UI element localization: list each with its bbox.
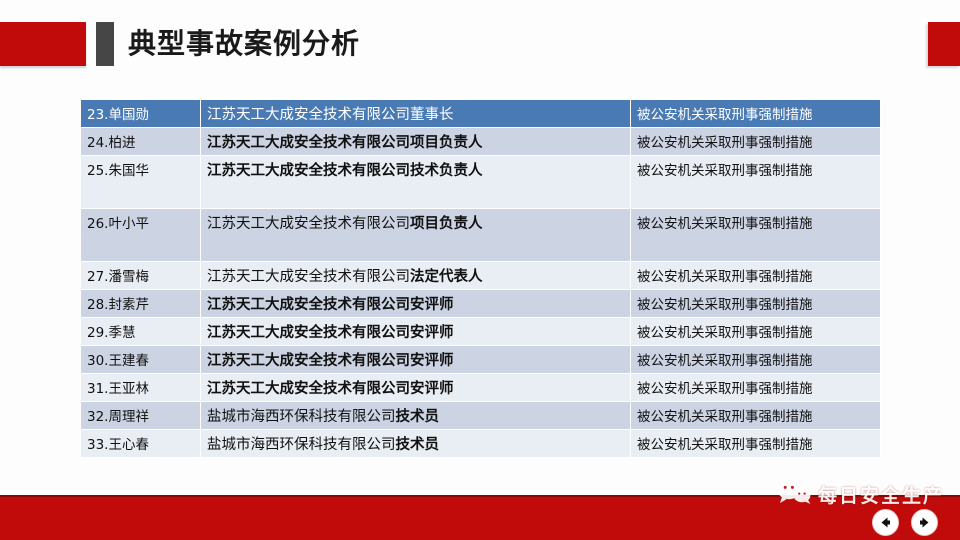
cell-penalty-note: 被公安机关采取刑事强制措施 xyxy=(631,156,881,209)
cell-penalty-note: 被公安机关采取刑事强制措施 xyxy=(631,402,881,430)
role-title: 技术负责人 xyxy=(410,163,483,179)
red-block-left xyxy=(0,22,86,66)
cell-person-name: 32.周理祥 xyxy=(81,402,201,430)
role-title: 安评师 xyxy=(410,297,454,313)
cell-person-name: 33.王心春 xyxy=(81,430,201,458)
cell-company-role: 江苏天工大成安全技术有限公司董事长 xyxy=(201,100,631,128)
company-name: 江苏天工大成安全技术有限公司 xyxy=(207,135,410,151)
cell-company-role: 盐城市海西环保科技有限公司技术员 xyxy=(201,430,631,458)
table-row: 30.王建春江苏天工大成安全技术有限公司安评师被公安机关采取刑事强制措施 xyxy=(81,346,881,374)
red-block-right xyxy=(928,22,960,66)
prev-slide-button[interactable] xyxy=(872,509,899,536)
arrow-left-icon xyxy=(878,515,893,530)
company-name: 江苏天工大成安全技术有限公司 xyxy=(207,216,410,232)
next-slide-button[interactable] xyxy=(911,509,938,536)
role-title: 项目负责人 xyxy=(410,135,483,151)
company-name: 江苏天工大成安全技术有限公司 xyxy=(207,353,410,369)
company-name: 江苏天工大成安全技术有限公司 xyxy=(207,269,410,285)
role-title: 法定代表人 xyxy=(410,269,483,285)
cell-penalty-note: 被公安机关采取刑事强制措施 xyxy=(631,128,881,156)
cell-person-name: 30.王建春 xyxy=(81,346,201,374)
table-row: 26.叶小平江苏天工大成安全技术有限公司项目负责人被公安机关采取刑事强制措施 xyxy=(81,209,881,262)
role-title: 董事长 xyxy=(410,107,454,123)
cell-penalty-note: 被公安机关采取刑事强制措施 xyxy=(631,290,881,318)
cell-person-name: 26.叶小平 xyxy=(81,209,201,262)
cell-penalty-note: 被公安机关采取刑事强制措施 xyxy=(631,346,881,374)
role-title: 项目负责人 xyxy=(410,216,483,232)
role-title: 安评师 xyxy=(410,381,454,397)
role-title: 技术员 xyxy=(396,409,440,425)
cell-person-name: 25.朱国华 xyxy=(81,156,201,209)
cell-person-name: 28.封素芹 xyxy=(81,290,201,318)
cell-company-role: 江苏天工大成安全技术有限公司项目负责人 xyxy=(201,209,631,262)
company-name: 江苏天工大成安全技术有限公司 xyxy=(207,325,410,341)
role-title: 技术员 xyxy=(396,437,440,453)
company-name: 盐城市海西环保科技有限公司 xyxy=(207,437,396,453)
gray-bar-accent xyxy=(96,22,114,66)
cell-company-role: 江苏天工大成安全技术有限公司安评师 xyxy=(201,374,631,402)
company-name: 江苏天工大成安全技术有限公司 xyxy=(207,107,410,123)
slide-nav xyxy=(872,509,938,536)
table-row: 29.季慧江苏天工大成安全技术有限公司安评师被公安机关采取刑事强制措施 xyxy=(81,318,881,346)
company-name: 江苏天工大成安全技术有限公司 xyxy=(207,381,410,397)
cell-company-role: 江苏天工大成安全技术有限公司安评师 xyxy=(201,290,631,318)
cell-person-name: 31.王亚林 xyxy=(81,374,201,402)
company-name: 江苏天工大成安全技术有限公司 xyxy=(207,297,410,313)
cell-company-role: 江苏天工大成安全技术有限公司技术负责人 xyxy=(201,156,631,209)
role-title: 安评师 xyxy=(410,353,454,369)
cell-person-name: 27.潘雪梅 xyxy=(81,262,201,290)
company-name: 盐城市海西环保科技有限公司 xyxy=(207,409,396,425)
footer-red-bar xyxy=(0,495,960,540)
table-row: 33.王心春盐城市海西环保科技有限公司技术员被公安机关采取刑事强制措施 xyxy=(81,430,881,458)
cell-penalty-note: 被公安机关采取刑事强制措施 xyxy=(631,209,881,262)
cell-company-role: 江苏天工大成安全技术有限公司安评师 xyxy=(201,346,631,374)
cell-person-name: 23.单国勋 xyxy=(81,100,201,128)
table-row: 28.封素芹江苏天工大成安全技术有限公司安评师被公安机关采取刑事强制措施 xyxy=(81,290,881,318)
company-name: 江苏天工大成安全技术有限公司 xyxy=(207,163,410,179)
page-title: 典型事故案例分析 xyxy=(128,21,360,67)
cell-penalty-note: 被公安机关采取刑事强制措施 xyxy=(631,430,881,458)
table-row: 23.单国勋江苏天工大成安全技术有限公司董事长被公安机关采取刑事强制措施 xyxy=(81,100,881,128)
arrow-right-icon xyxy=(917,515,932,530)
cell-company-role: 江苏天工大成安全技术有限公司法定代表人 xyxy=(201,262,631,290)
role-title: 安评师 xyxy=(410,325,454,341)
table-row: 25.朱国华江苏天工大成安全技术有限公司技术负责人被公安机关采取刑事强制措施 xyxy=(81,156,881,209)
accident-case-table: 23.单国勋江苏天工大成安全技术有限公司董事长被公安机关采取刑事强制措施24.柏… xyxy=(80,99,881,458)
slide-canvas: 典型事故案例分析 23.单国勋江苏天工大成安全技术有限公司董事长被公安机关采取刑… xyxy=(0,0,960,540)
cell-company-role: 江苏天工大成安全技术有限公司项目负责人 xyxy=(201,128,631,156)
cell-penalty-note: 被公安机关采取刑事强制措施 xyxy=(631,100,881,128)
table-row: 24.柏进江苏天工大成安全技术有限公司项目负责人被公安机关采取刑事强制措施 xyxy=(81,128,881,156)
cell-company-role: 江苏天工大成安全技术有限公司安评师 xyxy=(201,318,631,346)
cell-person-name: 29.季慧 xyxy=(81,318,201,346)
cell-penalty-note: 被公安机关采取刑事强制措施 xyxy=(631,318,881,346)
table-row: 27.潘雪梅江苏天工大成安全技术有限公司法定代表人被公安机关采取刑事强制措施 xyxy=(81,262,881,290)
table-row: 31.王亚林江苏天工大成安全技术有限公司安评师被公安机关采取刑事强制措施 xyxy=(81,374,881,402)
cell-penalty-note: 被公安机关采取刑事强制措施 xyxy=(631,374,881,402)
cell-penalty-note: 被公安机关采取刑事强制措施 xyxy=(631,262,881,290)
cell-person-name: 24.柏进 xyxy=(81,128,201,156)
cell-company-role: 盐城市海西环保科技有限公司技术员 xyxy=(201,402,631,430)
table-row: 32.周理祥盐城市海西环保科技有限公司技术员被公安机关采取刑事强制措施 xyxy=(81,402,881,430)
